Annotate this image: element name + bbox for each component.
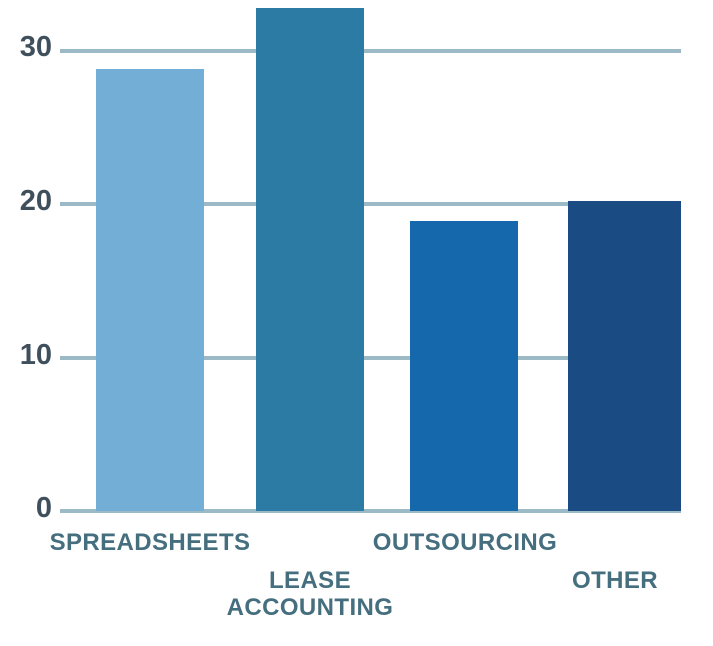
category-label-outsourcing: OUTSOURCING	[355, 530, 575, 557]
y-tick-label-30: 30	[6, 33, 52, 62]
y-tick-label-0: 0	[6, 494, 52, 523]
category-axis: SPREADSHEETS LEASE ACCOUNTING OUTSOURCIN…	[0, 520, 713, 646]
bar-lease-accounting[interactable]	[256, 8, 364, 511]
plot-area: 30 20 10 0	[0, 0, 713, 520]
category-label-other: OTHER	[520, 568, 710, 595]
bar-outsourcing[interactable]	[410, 221, 518, 511]
bar-other[interactable]	[568, 201, 681, 511]
bar-chart: 30 20 10 0 SPREADSHEETS LEASE ACCOUNTING…	[0, 0, 713, 646]
bar-spreadsheets[interactable]	[96, 69, 204, 511]
category-label-spreadsheets: SPREADSHEETS	[40, 530, 260, 557]
gridline-30	[60, 49, 681, 53]
category-label-spreadsheets-line1: SPREADSHEETS	[40, 530, 260, 557]
category-label-other-line1: OTHER	[520, 568, 710, 595]
category-label-outsourcing-line1: OUTSOURCING	[355, 530, 575, 557]
y-tick-label-20: 20	[6, 187, 52, 216]
category-label-lease-accounting: LEASE ACCOUNTING	[200, 568, 420, 622]
category-label-lease-accounting-line1: LEASE	[200, 568, 420, 595]
category-label-lease-accounting-line2: ACCOUNTING	[200, 595, 420, 622]
y-tick-label-10: 10	[6, 341, 52, 370]
